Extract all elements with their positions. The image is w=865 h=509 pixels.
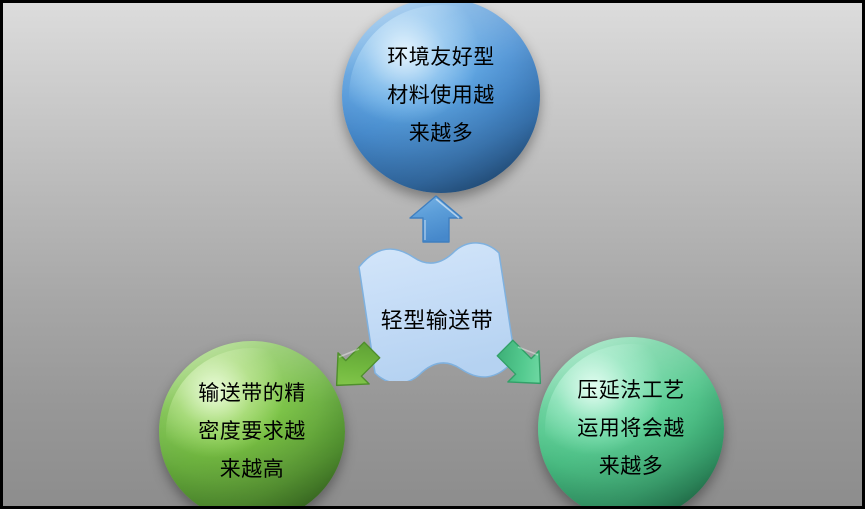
node-bottom-right-label: 压延法工艺 运用将会越 来越多 xyxy=(577,372,685,486)
node-top-label: 环境友好型 材料使用越 来越多 xyxy=(387,39,495,153)
node-bottom-left-label: 输送带的精 密度要求越 来越高 xyxy=(198,375,306,489)
arrow-up-icon xyxy=(408,194,464,244)
node-top-environment[interactable]: 环境友好型 材料使用越 来越多 xyxy=(342,0,540,193)
node-bottom-right-calendering[interactable]: 压延法工艺 运用将会越 来越多 xyxy=(538,337,724,509)
arrow-down-right-icon xyxy=(490,333,554,397)
node-center-label: 轻型输送带 xyxy=(381,306,494,336)
diagram-canvas: 环境友好型 材料使用越 来越多 xyxy=(0,0,865,509)
node-bottom-left-precision[interactable]: 输送带的精 密度要求越 来越高 xyxy=(159,341,345,509)
